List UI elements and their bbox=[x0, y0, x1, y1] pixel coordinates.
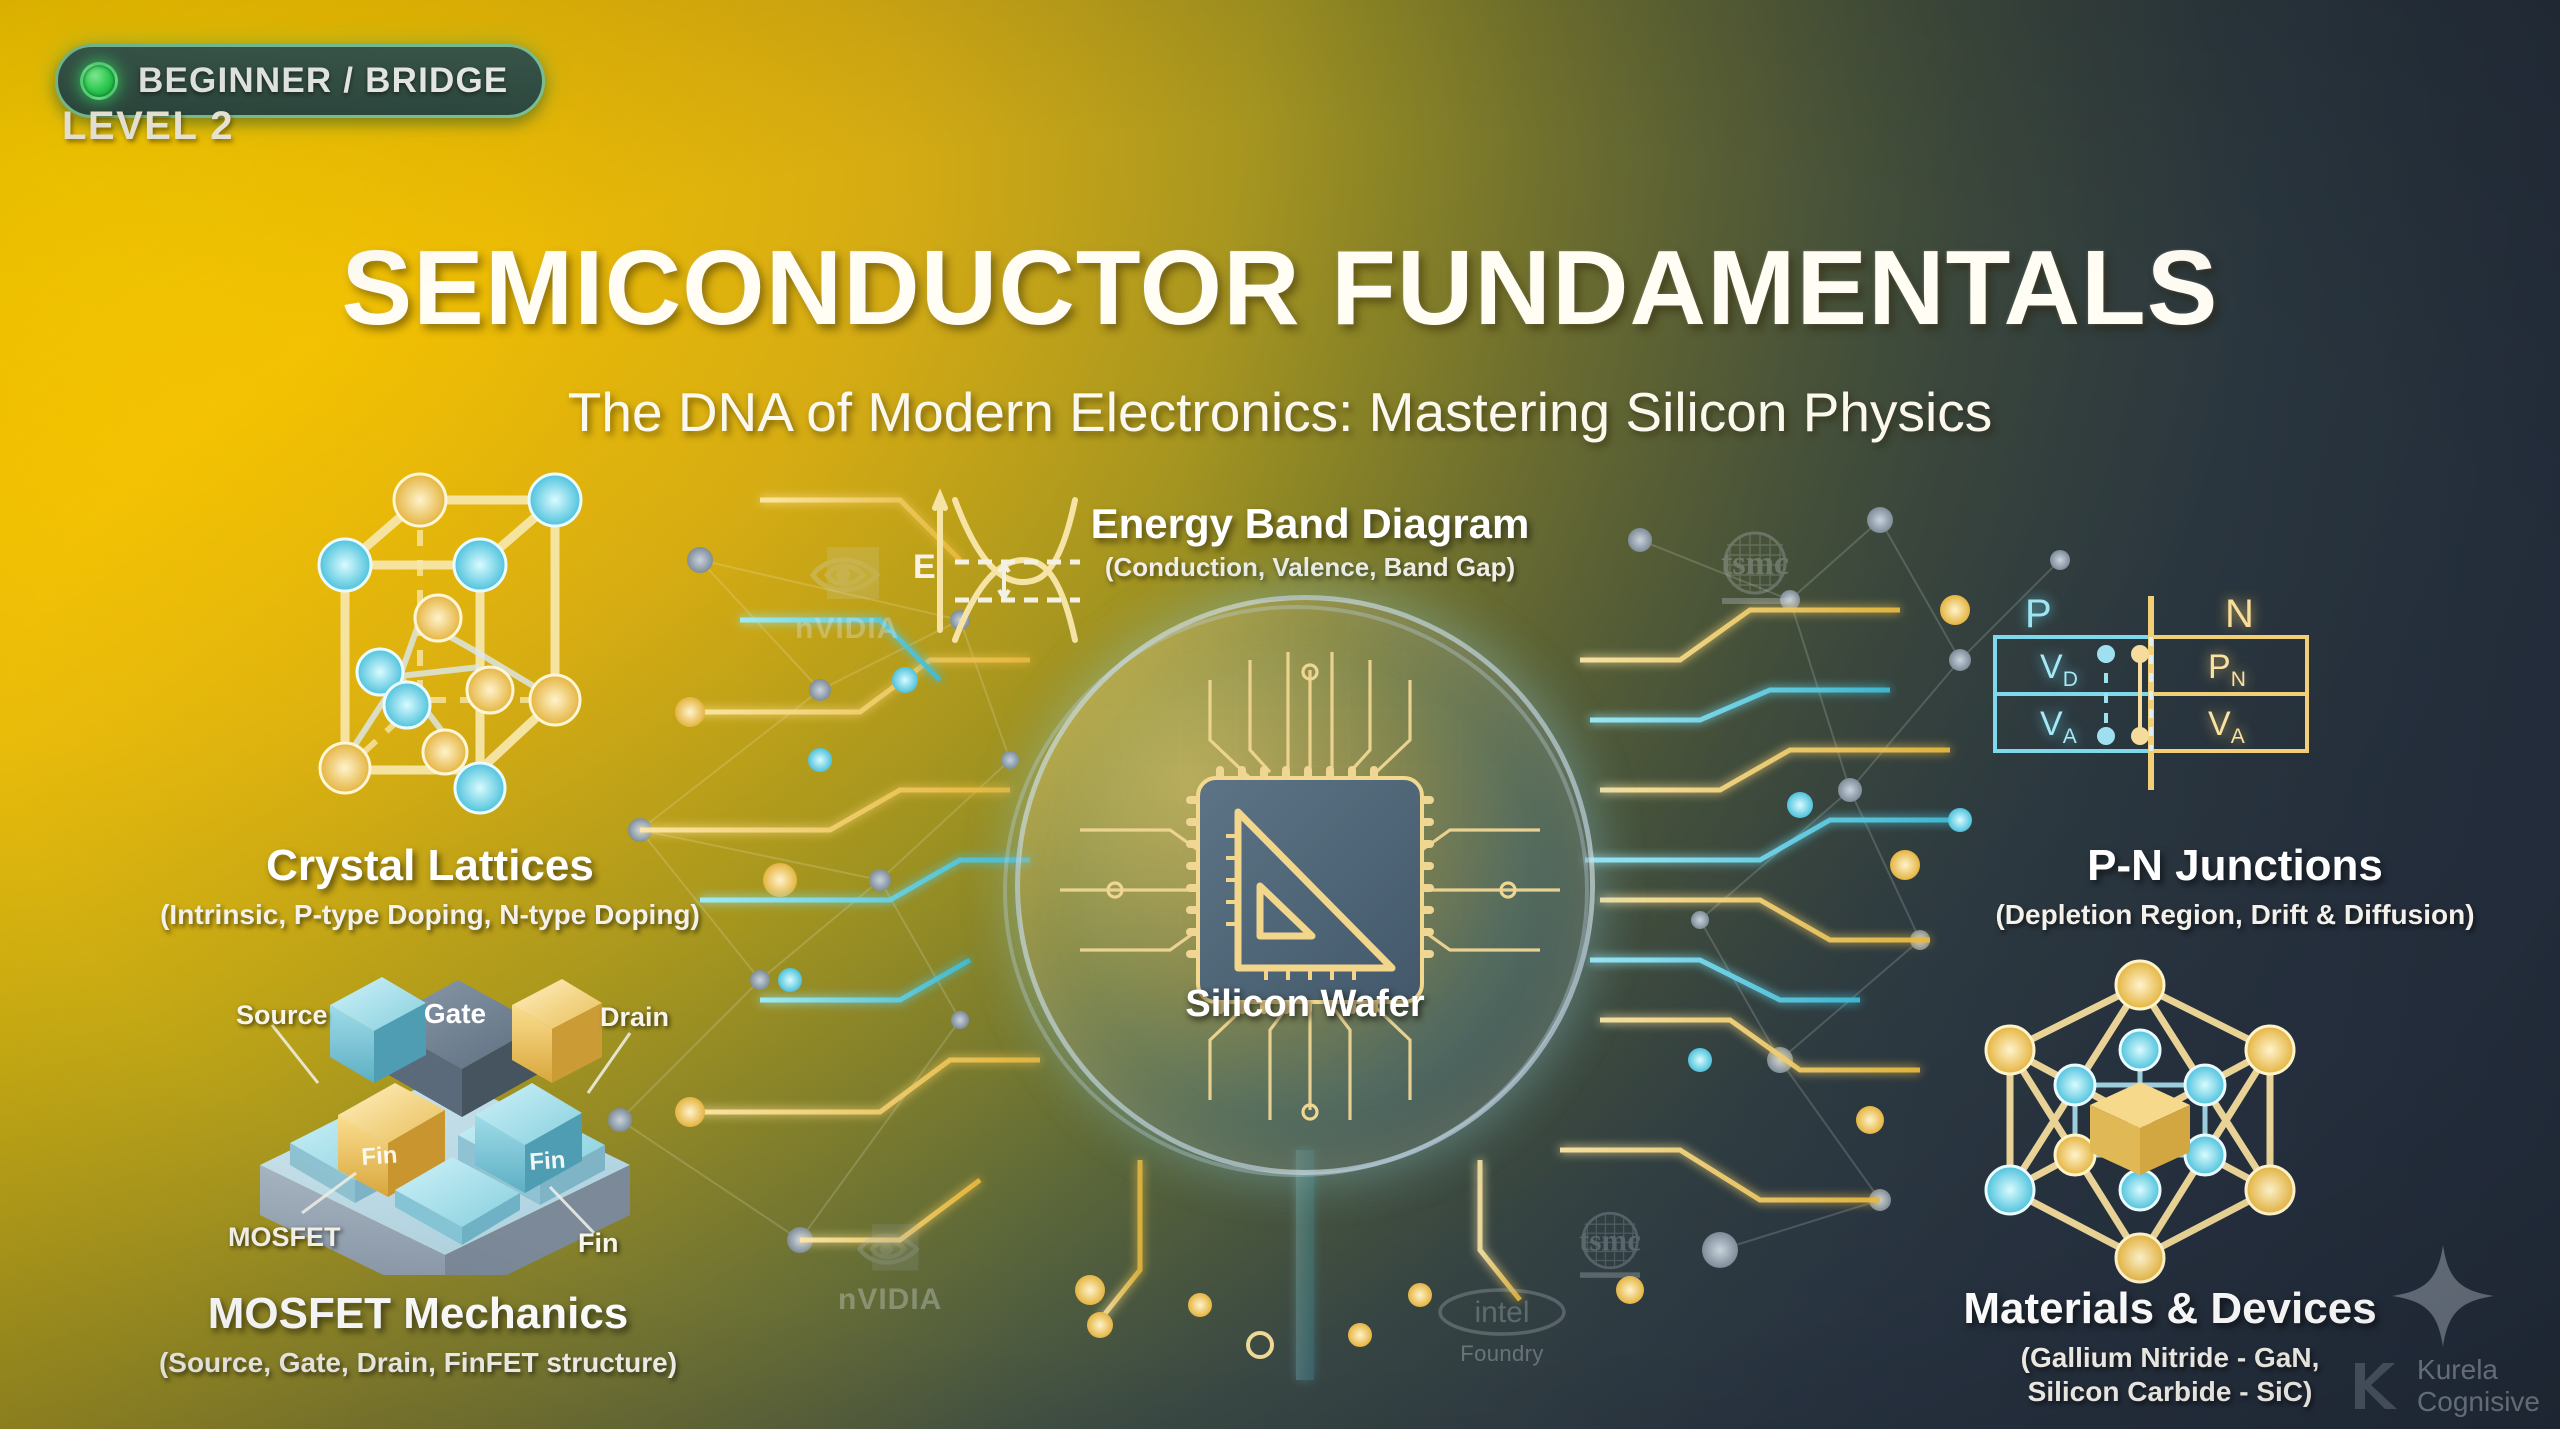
infographic-canvas: BEGINNER / BRIDGE LEVEL 2 SEMICONDUCTOR … bbox=[0, 0, 2560, 1429]
vignette-overlay bbox=[0, 0, 2560, 1429]
